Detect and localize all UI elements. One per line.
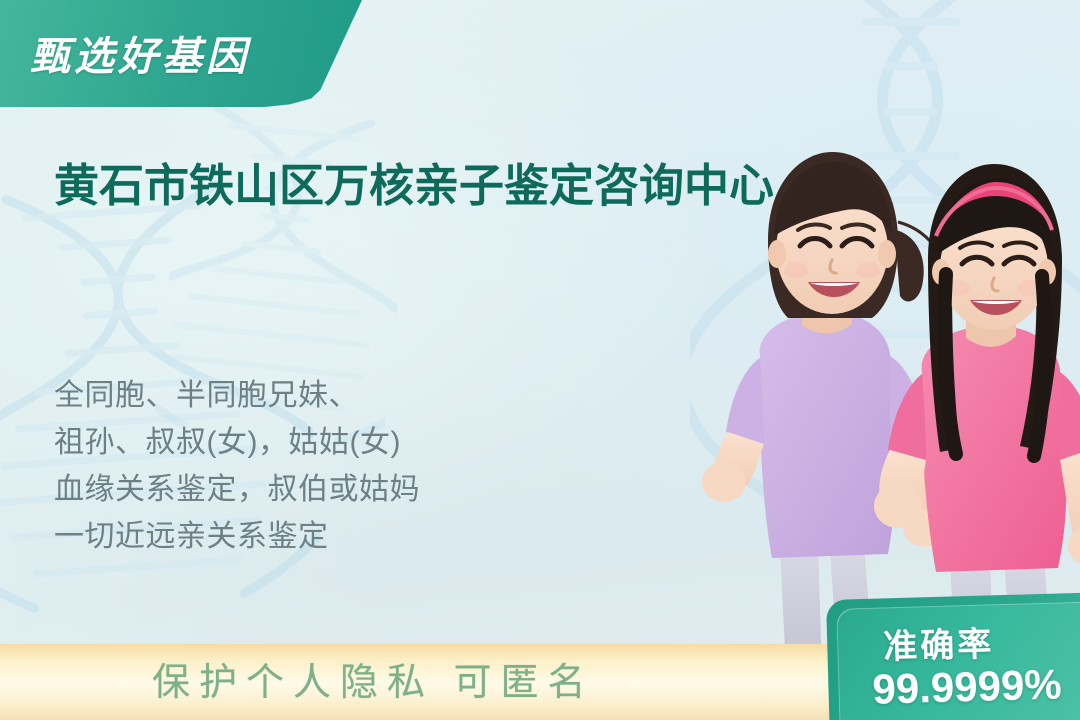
privacy-text: 保护个人隐私 可匿名 [152, 651, 595, 706]
accuracy-badge-label: 准确率 [883, 616, 995, 668]
accuracy-badge-card: 准确率 99.9999% [836, 601, 1080, 720]
promo-poster: 甄选好基因 黄石市铁山区万核亲子鉴定咨询中心 全同胞、半同胞兄妹、 祖孙、叔叔(… [0, 0, 1080, 720]
service-line: 一切近远亲关系鉴定 [54, 513, 420, 560]
logo-banner: 甄选好基因 [0, 0, 362, 107]
page-title: 黄石市铁山区万核亲子鉴定咨询中心 [54, 152, 904, 220]
service-line: 祖孙、叔叔(女)，姑姑(女) [54, 419, 420, 466]
accuracy-badge: 准确率 99.9999% [826, 592, 1080, 720]
service-list: 全同胞、半同胞兄妹、 祖孙、叔叔(女)，姑姑(女) 血缘关系鉴定，叔伯或姑妈 一… [54, 372, 420, 560]
service-line: 血缘关系鉴定，叔伯或姑妈 [54, 466, 420, 513]
accuracy-badge-value: 99.9999% [872, 660, 1062, 713]
service-line: 全同胞、半同胞兄妹、 [54, 372, 420, 419]
logo-text: 甄选好基因 [30, 24, 250, 82]
